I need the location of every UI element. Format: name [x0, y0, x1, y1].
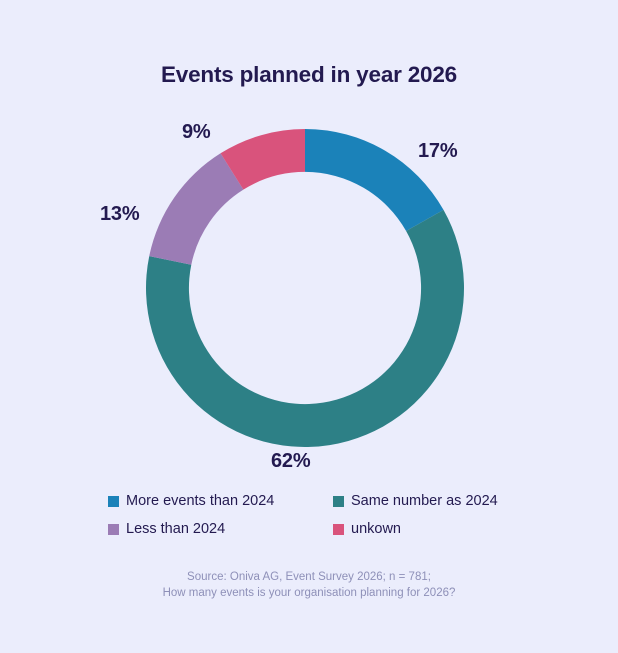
- legend-item-more-events[interactable]: More events than 2024: [108, 492, 333, 510]
- donut-chart-card: Events planned in year 2026 17% 62% 13% …: [0, 0, 618, 653]
- source-note-line-2: How many events is your organisation pla…: [0, 586, 618, 602]
- slice-value-label-same-number: 62%: [271, 450, 310, 473]
- legend-item-label: unkown: [351, 520, 401, 538]
- slice-value-label-more-events: 17%: [418, 140, 457, 163]
- donut-chart-plot: 17% 62% 13% 9%: [0, 0, 618, 500]
- legend-swatch-icon: [108, 496, 119, 507]
- chart-legend: More events than 2024 Same number as 202…: [108, 487, 518, 543]
- source-note-line-1: Source: Oniva AG, Event Survey 2026; n =…: [0, 570, 618, 586]
- legend-item-label: More events than 2024: [126, 492, 274, 510]
- donut-slice[interactable]: [149, 153, 243, 264]
- legend-swatch-icon: [333, 524, 344, 535]
- legend-item-less-than[interactable]: Less than 2024: [108, 520, 333, 538]
- legend-item-label: Same number as 2024: [351, 492, 498, 510]
- donut-slice-group: [146, 129, 464, 447]
- legend-swatch-icon: [333, 496, 344, 507]
- legend-item-label: Less than 2024: [126, 520, 225, 538]
- slice-value-label-less-than: 13%: [100, 203, 139, 226]
- legend-item-unkown[interactable]: unkown: [333, 520, 518, 538]
- donut-chart-svg: [146, 129, 464, 447]
- source-note: Source: Oniva AG, Event Survey 2026; n =…: [0, 570, 618, 601]
- legend-item-same-number[interactable]: Same number as 2024: [333, 492, 518, 510]
- slice-value-label-unkown: 9%: [182, 121, 211, 144]
- legend-swatch-icon: [108, 524, 119, 535]
